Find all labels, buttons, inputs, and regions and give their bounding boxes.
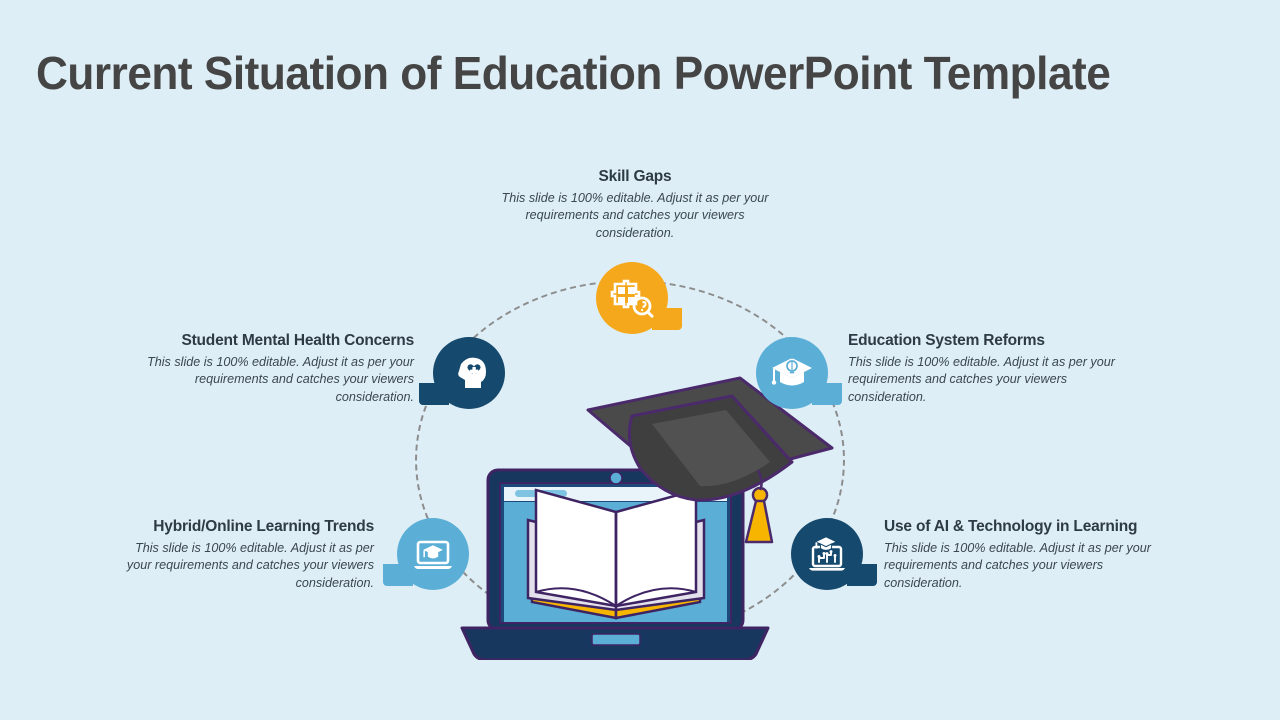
- text-block-hybrid-online-learning-trends: Hybrid/Online Learning Trends This slide…: [112, 518, 374, 592]
- graduation-cap-overlay-icon: [815, 537, 836, 551]
- node-icon-skill-gaps[interactable]: [596, 262, 668, 334]
- laptop-base-bar: [414, 566, 452, 569]
- node-body: This slide is 100% editable. Adjust it a…: [487, 190, 783, 242]
- node-icon-education-system-reforms[interactable]: [756, 337, 828, 409]
- page-title: Current Situation of Education PowerPoin…: [36, 46, 1188, 100]
- laptop-ai-graduation-icon: [791, 518, 863, 590]
- node-heading: Hybrid/Online Learning Trends: [112, 518, 374, 536]
- slide-canvas: Current Situation of Education PowerPoin…: [0, 0, 1280, 720]
- node-body: This slide is 100% editable. Adjust it a…: [848, 354, 1138, 406]
- laptop-graduation-cap-icon: [397, 518, 469, 590]
- node-heading: Student Mental Health Concerns: [122, 332, 414, 350]
- text-block-use-of-ai-and-technology-in-learning: Use of AI & Technology in Learning This …: [884, 518, 1174, 592]
- node-heading: Education System Reforms: [848, 332, 1138, 350]
- node-icon-student-mental-health-concerns[interactable]: [433, 337, 505, 409]
- node-icon-use-of-ai-and-technology-in-learning[interactable]: [791, 518, 863, 590]
- tassel: [746, 501, 772, 542]
- text-block-student-mental-health-concerns: Student Mental Health Concerns This slid…: [122, 332, 414, 406]
- node-heading: Skill Gaps: [487, 168, 783, 186]
- screen-graduation-cap-icon: [423, 545, 443, 558]
- text-block-education-system-reforms: Education System Reforms This slide is 1…: [848, 332, 1138, 406]
- node-body: This slide is 100% editable. Adjust it a…: [884, 540, 1174, 592]
- ai-nodes-icon: [818, 550, 837, 562]
- node-body: This slide is 100% editable. Adjust it a…: [122, 354, 414, 406]
- laptop-camera-icon: [610, 472, 622, 484]
- center-illustration: [440, 370, 840, 660]
- text-block-skill-gaps: Skill Gaps This slide is 100% editable. …: [487, 168, 783, 242]
- puzzle-search-icon: [596, 262, 668, 334]
- node-icon-hybrid-online-learning-trends[interactable]: [397, 518, 469, 590]
- graduation-cap-bulb-icon: [756, 337, 828, 409]
- laptop-trackpad: [592, 634, 640, 645]
- node-heading: Use of AI & Technology in Learning: [884, 518, 1174, 536]
- node-body: This slide is 100% editable. Adjust it a…: [112, 540, 374, 592]
- laptop-base-bar: [809, 568, 845, 571]
- head-heart-cross-icon: [433, 337, 505, 409]
